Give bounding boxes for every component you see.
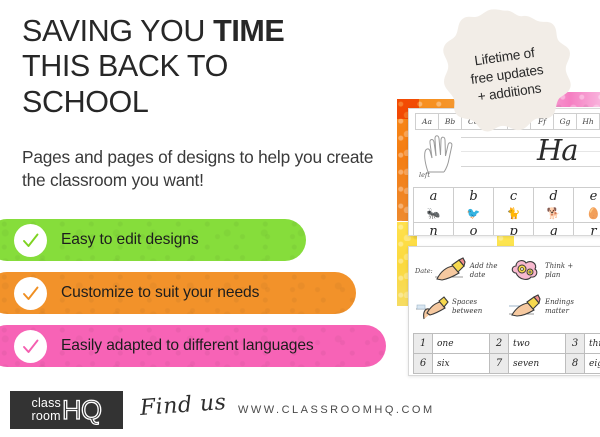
prompt-label-line1: Spaces	[452, 298, 477, 306]
headline-line1-emphasis: TIME	[213, 14, 284, 48]
letter-cell: o 🐙	[453, 222, 494, 236]
letter-cell: q 🐝	[533, 222, 574, 236]
feature-label: Easy to edit designs	[61, 231, 199, 249]
letter-glyph: b	[454, 189, 493, 204]
feature-pill-easy-to-edit: Easy to edit designs	[0, 219, 306, 261]
letter-glyph: q	[534, 224, 573, 236]
logo-hq-mark: HQ	[62, 397, 102, 424]
number-digit: 6	[413, 353, 433, 374]
prompt-label: Endings matter	[545, 298, 574, 316]
letter-cell: p 🐷	[493, 222, 534, 236]
prompt-label-line2: between	[452, 307, 482, 315]
classroomhq-logo: class room HQ	[10, 391, 123, 429]
letter-glyph: a	[414, 189, 453, 204]
number-word: two	[508, 333, 566, 354]
letter-cell: c 🐈	[493, 187, 534, 223]
prompt-label: Think + plan	[545, 262, 573, 280]
prompt-row: Date: Add the date	[415, 253, 600, 289]
number-table-row: 6 six 7 seven 8 eight 9 nine	[413, 353, 600, 373]
letter-cell: r 🌈	[573, 222, 600, 236]
letter-picture: 🐕	[547, 209, 561, 220]
number-digit: 7	[489, 353, 509, 374]
check-icon	[14, 224, 47, 257]
prompt-label-line2: matter	[545, 307, 569, 315]
page-title: SAVING YOU TIME THIS BACK TO SCHOOL	[22, 14, 372, 120]
page-subtitle: Pages and pages of designs to help you c…	[22, 146, 374, 192]
number-word: three	[584, 333, 600, 354]
letter-glyph: p	[494, 224, 533, 236]
letter-picture: 🐈	[507, 209, 521, 220]
headline-line1-normal: SAVING YOU	[22, 14, 213, 48]
check-icon	[14, 277, 47, 310]
letter-glyph: e	[574, 189, 600, 204]
headline-line3: SCHOOL	[22, 85, 148, 119]
feature-pill-customize: Customize to suit your needs	[0, 272, 356, 314]
finger-spacing-icon	[415, 293, 449, 321]
logo-wordmark: class room	[32, 397, 61, 423]
prompt-label-line1: Endings	[545, 298, 574, 306]
number-word-table: 1 one 2 two 3 three 4 four 6 six 7 seven…	[413, 333, 600, 373]
lifetime-updates-badge: Lifetime of free updates + additions	[440, 8, 574, 142]
badge-text: Lifetime of free updates + additions	[431, 0, 582, 151]
letter-cell: e 🥚	[573, 187, 600, 223]
prompt-label: Add the date	[470, 262, 498, 280]
letter-glyph: n	[414, 224, 453, 236]
logo-word-room: room	[32, 410, 61, 423]
feature-label: Easily adapted to different languages	[61, 337, 314, 355]
letter-glyph: r	[574, 224, 600, 236]
letter-cell: a 🐜	[413, 187, 454, 223]
prompt-item: Think + plan	[508, 257, 600, 285]
letter-picture: 🐜	[427, 209, 441, 220]
logo-word-class: class	[32, 397, 61, 410]
letter-cell: n 🧵	[413, 222, 454, 236]
prompt-label-line1: Add the	[470, 262, 498, 270]
letter-picture-grid: a 🐜 b 🐦 c 🐈 d 🐕 e 🥚 f 🔥	[413, 187, 600, 236]
find-us-script-text: Find us	[139, 390, 227, 421]
letter-picture: 🐦	[467, 209, 481, 220]
worksheet-writing-prompts-sheet: Date: Add the date	[408, 246, 600, 376]
feature-pill-languages: Easily adapted to different languages	[0, 325, 386, 367]
number-digit: 2	[489, 333, 509, 354]
prompt-item: Date: Add the date	[415, 257, 508, 285]
number-word: seven	[508, 353, 566, 374]
pencil-writing-icon	[433, 257, 467, 285]
prompt-label-line2: plan	[545, 271, 560, 279]
thought-cloud-gears-icon	[508, 257, 542, 285]
prompt-row: Spaces between	[415, 289, 600, 325]
prompt-item: Spaces between	[415, 293, 508, 321]
pencil-endings-icon	[508, 293, 542, 321]
prompt-label-line2: date	[470, 271, 486, 279]
number-digit: 3	[565, 333, 585, 354]
hand-label: left	[419, 171, 430, 179]
prompt-label: Spaces between	[452, 298, 482, 316]
number-table-row: 1 one 2 two 3 three 4 four	[413, 333, 600, 353]
alphabet-cell: Aa	[415, 113, 439, 130]
number-word: one	[432, 333, 490, 354]
number-digit: 1	[413, 333, 433, 354]
writing-prompt-grid: Date: Add the date	[415, 253, 600, 325]
letter-picture: 🥚	[587, 209, 600, 220]
website-url: WWW.CLASSROOMHQ.COM	[238, 404, 435, 416]
letter-glyph: d	[534, 189, 573, 204]
letter-glyph: c	[494, 189, 533, 204]
check-icon	[14, 330, 47, 363]
letter-cell: d 🐕	[533, 187, 574, 223]
date-label: Date:	[415, 267, 433, 275]
promo-graphic: Aa Bb Cc Dd Ee Ff Gg Hh Ii Jj Kk Ll Mm	[0, 0, 600, 437]
letter-glyph: o	[454, 224, 493, 236]
number-word: six	[432, 353, 490, 374]
prompt-item: Endings matter	[508, 293, 600, 321]
headline-line2: THIS BACK TO	[22, 49, 228, 83]
letter-cell: b 🐦	[453, 187, 494, 223]
feature-label: Customize to suit your needs	[61, 284, 259, 302]
number-word: eight	[584, 353, 600, 374]
prompt-label-line1: Think +	[545, 262, 573, 270]
number-digit: 8	[565, 353, 585, 374]
